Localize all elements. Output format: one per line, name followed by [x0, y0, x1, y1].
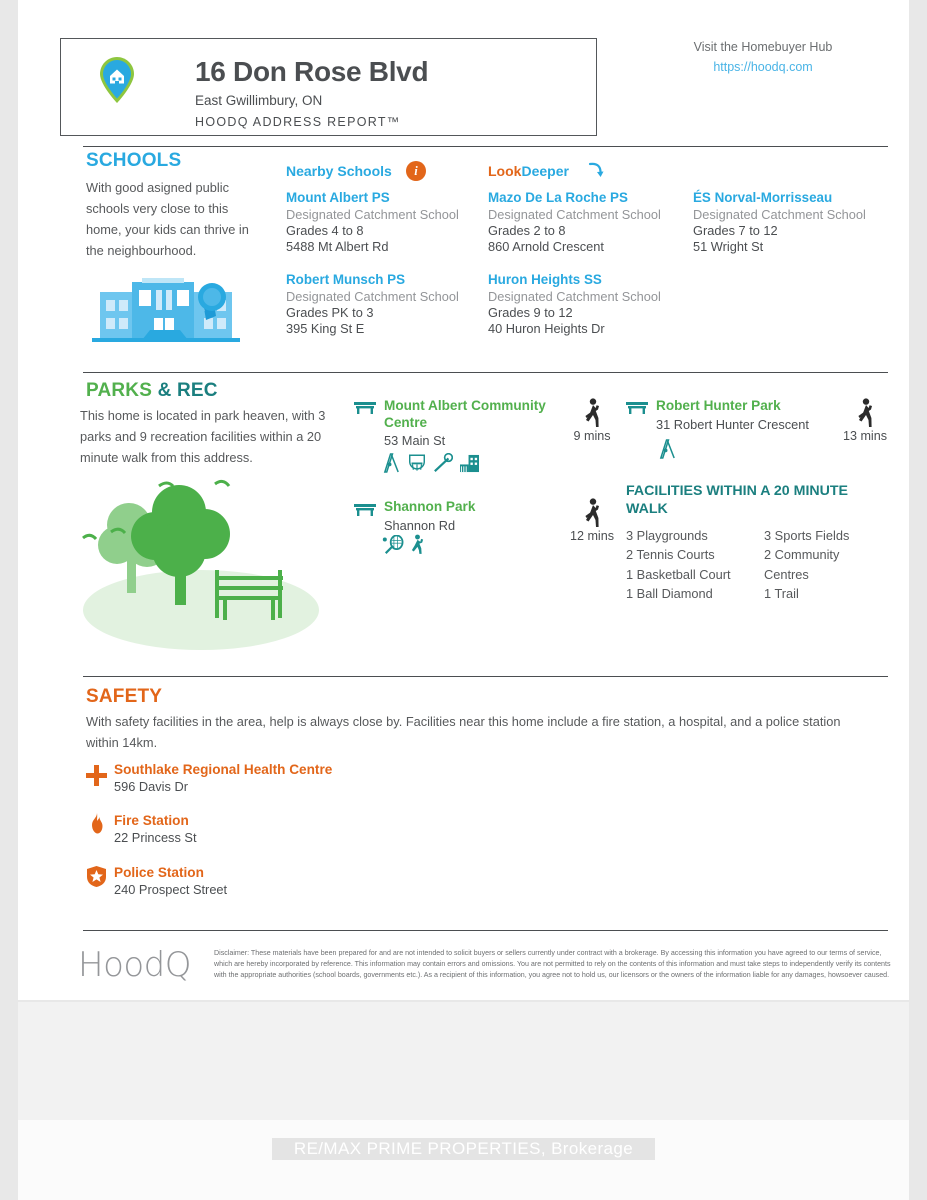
divider-parks [83, 372, 888, 373]
address-header-box: 16 Don Rose Blvd East Gwillimbury, ON HO… [60, 38, 597, 136]
park-bench-icon [354, 400, 376, 414]
walking-person-icon [582, 398, 602, 428]
park-card: Shannon Park Shannon Rd [384, 499, 564, 533]
school-address: 395 King St E [286, 321, 491, 336]
facility-item: 3 Playgrounds [626, 526, 761, 545]
facilities-heading: FACILITIES WITHIN A 20 MINUTE WALK [626, 482, 856, 518]
section-title-parks: PARKS & REC [86, 380, 218, 402]
parks-blurb: This home is located in park heaven, wit… [80, 406, 360, 469]
facility-item: 1 Ball Diamond [626, 584, 761, 603]
school-designation: Designated Catchment School [286, 207, 491, 222]
walking-person-icon [855, 398, 875, 428]
school-card: Huron Heights SS Designated Catchment Sc… [488, 272, 693, 336]
nearby-schools-label: Nearby Schools [286, 163, 392, 179]
hospital-cross-icon [86, 765, 107, 786]
park-amenity-icons [658, 438, 677, 464]
park-trees-bench-icon [73, 470, 343, 655]
facility-item: Centres [764, 565, 889, 584]
safety-card: Southlake Regional Health Centre 596 Dav… [114, 762, 332, 794]
safety-address: 596 Davis Dr [114, 779, 332, 794]
park-address: 53 Main St [384, 433, 564, 448]
school-name: Huron Heights SS [488, 272, 693, 287]
safety-name: Southlake Regional Health Centre [114, 762, 332, 777]
school-card: Robert Munsch PS Designated Catchment Sc… [286, 272, 491, 336]
school-name: Robert Munsch PS [286, 272, 491, 287]
school-card: Mazo De La Roche PS Designated Catchment… [488, 190, 693, 254]
school-address: 860 Arnold Crescent [488, 239, 693, 254]
safety-name: Fire Station [114, 813, 197, 828]
park-amenity-icons [382, 534, 425, 560]
school-grades: Grades 7 to 12 [693, 223, 898, 238]
walk-minutes: 12 mins [563, 529, 621, 543]
divider-safety [83, 676, 888, 677]
school-name: Mount Albert PS [286, 190, 491, 205]
school-grades: Grades 2 to 8 [488, 223, 693, 238]
facility-item: 2 Community [764, 545, 889, 564]
walk-time: 9 mins [563, 398, 621, 443]
section-title-schools: SCHOOLS [86, 150, 181, 172]
school-grades: Grades 4 to 8 [286, 223, 491, 238]
report-page-1: 16 Don Rose Blvd East Gwillimbury, ON HO… [18, 0, 909, 1000]
map-pin-house-icon [99, 56, 135, 104]
school-designation: Designated Catchment School [693, 207, 898, 222]
park-name: Mount Albert Community Centre [384, 398, 564, 431]
park-address: 31 Robert Hunter Crescent [656, 417, 856, 432]
school-name: ÉS Norval-Morrisseau [693, 190, 898, 205]
safety-blurb: With safety facilities in the area, help… [86, 712, 876, 754]
playground-slide-icon [382, 452, 401, 478]
sports-field-runner-icon [410, 534, 425, 560]
school-address: 51 Wright St [693, 239, 898, 254]
divider-schools [83, 146, 888, 147]
homebuyer-hub-label: Visit the Homebuyer Hub [618, 40, 908, 54]
divider-footer [83, 930, 888, 931]
school-building-award-icon [92, 268, 240, 356]
page-title: 16 Don Rose Blvd [195, 56, 428, 88]
facility-item: 1 Basketball Court [626, 565, 761, 584]
playground-slide-icon [658, 438, 677, 464]
lookdeeper-deeper: Deeper [521, 163, 568, 179]
police-shield-icon [86, 866, 107, 887]
school-grades: Grades 9 to 12 [488, 305, 693, 320]
address-city: East Gwillimbury, ON [195, 93, 322, 108]
ball-diamond-icon [433, 453, 453, 478]
park-amenity-icons [382, 452, 480, 478]
basketball-hoop-icon [407, 452, 427, 478]
park-card: Mount Albert Community Centre 53 Main St [384, 398, 564, 448]
facility-item: 2 Tennis Courts [626, 545, 761, 564]
park-name: Shannon Park [384, 499, 564, 516]
park-name: Robert Hunter Park [656, 398, 856, 415]
report-type-label: HOODQ ADDRESS REPORT™ [195, 115, 401, 129]
safety-address: 240 Prospect Street [114, 882, 227, 897]
safety-name: Police Station [114, 865, 227, 880]
facility-item: 3 Sports Fields [764, 526, 889, 545]
disclaimer-text: Disclaimer: These materials have been pr… [214, 948, 892, 980]
section-title-safety: SAFETY [86, 686, 162, 708]
facility-item: 1 Trail [764, 584, 889, 603]
safety-card: Fire Station 22 Princess St [114, 813, 197, 845]
park-card: Robert Hunter Park 31 Robert Hunter Cres… [656, 398, 856, 432]
walk-minutes: 9 mins [563, 429, 621, 443]
school-card: ÉS Norval-Morrisseau Designated Catchmen… [693, 190, 898, 254]
walk-time: 12 mins [563, 498, 621, 543]
tennis-racquet-icon [382, 535, 404, 560]
lookdeeper-look: Look [488, 163, 521, 179]
walk-minutes: 13 mins [836, 429, 894, 443]
info-icon[interactable]: i [406, 161, 426, 181]
safety-card: Police Station 240 Prospect Street [114, 865, 227, 897]
school-name: Mazo De La Roche PS [488, 190, 693, 205]
walk-time: 13 mins [836, 398, 894, 443]
facilities-column-right: 3 Sports Fields 2 Community Centres 1 Tr… [764, 526, 889, 604]
brokerage-watermark: RE/MAX PRIME PROPERTIES, Brokerage [272, 1138, 655, 1160]
school-grades: Grades PK to 3 [286, 305, 491, 320]
hoodq-url-link[interactable]: https://hoodq.com [618, 60, 908, 74]
walking-person-icon [582, 498, 602, 528]
community-centre-icon [459, 454, 480, 478]
lookdeeper-label[interactable]: LookDeeper [488, 163, 569, 179]
parks-title-rec: & REC [158, 380, 218, 401]
parks-title-parks: PARKS [86, 380, 152, 401]
curved-arrow-icon[interactable] [588, 162, 604, 180]
schools-blurb: With good asigned public schools very cl… [86, 178, 258, 261]
report-page-2-lower [18, 1120, 909, 1200]
school-designation: Designated Catchment School [286, 289, 491, 304]
school-card: Mount Albert PS Designated Catchment Sch… [286, 190, 491, 254]
hoodq-logo: HoodQ [78, 945, 191, 985]
safety-address: 22 Princess St [114, 830, 197, 845]
park-bench-icon [626, 400, 648, 414]
park-address: Shannon Rd [384, 518, 564, 533]
facilities-column-left: 3 Playgrounds 2 Tennis Courts 1 Basketba… [626, 526, 761, 604]
school-designation: Designated Catchment School [488, 207, 693, 222]
school-designation: Designated Catchment School [488, 289, 693, 304]
park-bench-icon [354, 502, 376, 516]
school-address: 40 Huron Heights Dr [488, 321, 693, 336]
fire-flame-icon [86, 813, 107, 834]
school-address: 5488 Mt Albert Rd [286, 239, 491, 254]
